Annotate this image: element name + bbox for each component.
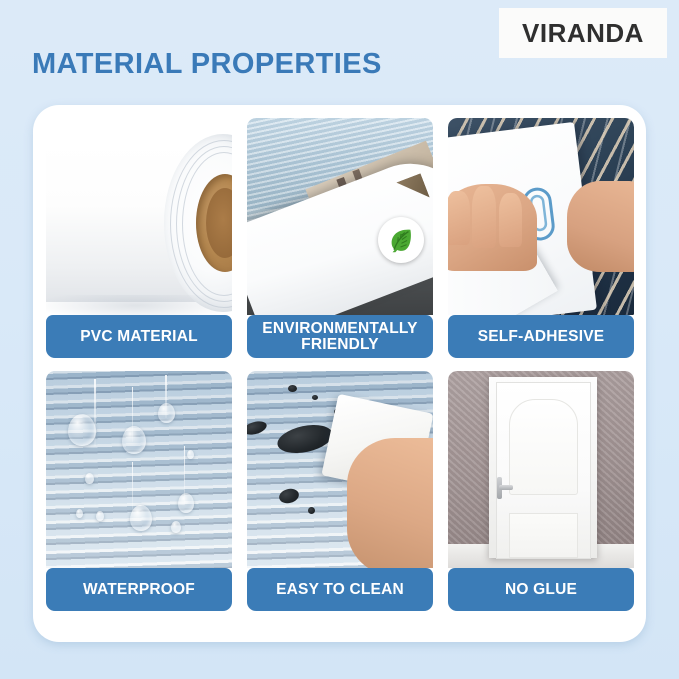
feature-caption-waterproof: WATERPROOF (46, 568, 232, 611)
page-title: MATERIAL PROPERTIES (32, 48, 382, 81)
caption-line-2: FRIENDLY (301, 336, 379, 353)
brand-logo-box: VIRANDA (499, 8, 667, 58)
feature-card-easy-to-clean[interactable]: EASY TO CLEAN (247, 371, 433, 611)
easy-to-clean-image (247, 371, 433, 568)
brand-name: VIRANDA (522, 18, 644, 49)
no-glue-image (448, 371, 634, 568)
feature-card-no-glue[interactable]: NO GLUE (448, 371, 634, 611)
environmentally-friendly-image (247, 118, 433, 315)
caption-text: ENVIRONMENTALLYFRIENDLY (262, 321, 417, 353)
feature-caption-pvc-material: PVC MATERIAL (46, 315, 232, 358)
feature-caption-no-glue: NO GLUE (448, 568, 634, 611)
feature-card-environmentally-friendly[interactable]: ENVIRONMENTALLYFRIENDLY (247, 118, 433, 358)
leaf-eco-icon (378, 217, 424, 263)
feature-card-waterproof[interactable]: WATERPROOF (46, 371, 232, 611)
pvc-material-image (46, 118, 232, 315)
caption-text: SELF-ADHESIVE (478, 329, 605, 345)
feature-caption-environmentally-friendly: ENVIRONMENTALLYFRIENDLY (247, 315, 433, 358)
feature-caption-self-adhesive: SELF-ADHESIVE (448, 315, 634, 358)
feature-caption-easy-to-clean: EASY TO CLEAN (247, 568, 433, 611)
caption-text: PVC MATERIAL (80, 329, 198, 345)
self-adhesive-image (448, 118, 634, 315)
caption-line-1: ENVIRONMENTALLY (262, 320, 417, 337)
caption-text: WATERPROOF (83, 582, 195, 598)
hand-holding-cloth (347, 438, 433, 568)
caption-text: NO GLUE (505, 582, 577, 598)
infographic-root: VIRANDA MATERIAL PROPERTIES PVC MATERIAL (0, 0, 679, 679)
feature-card-self-adhesive[interactable]: SELF-ADHESIVE (448, 118, 634, 358)
feature-card-pvc-material[interactable]: PVC MATERIAL (46, 118, 232, 358)
hand-right (567, 181, 634, 272)
waterproof-image (46, 371, 232, 568)
feature-grid: PVC MATERIAL (46, 118, 634, 628)
hand-left (448, 184, 537, 271)
caption-text: EASY TO CLEAN (276, 582, 404, 598)
